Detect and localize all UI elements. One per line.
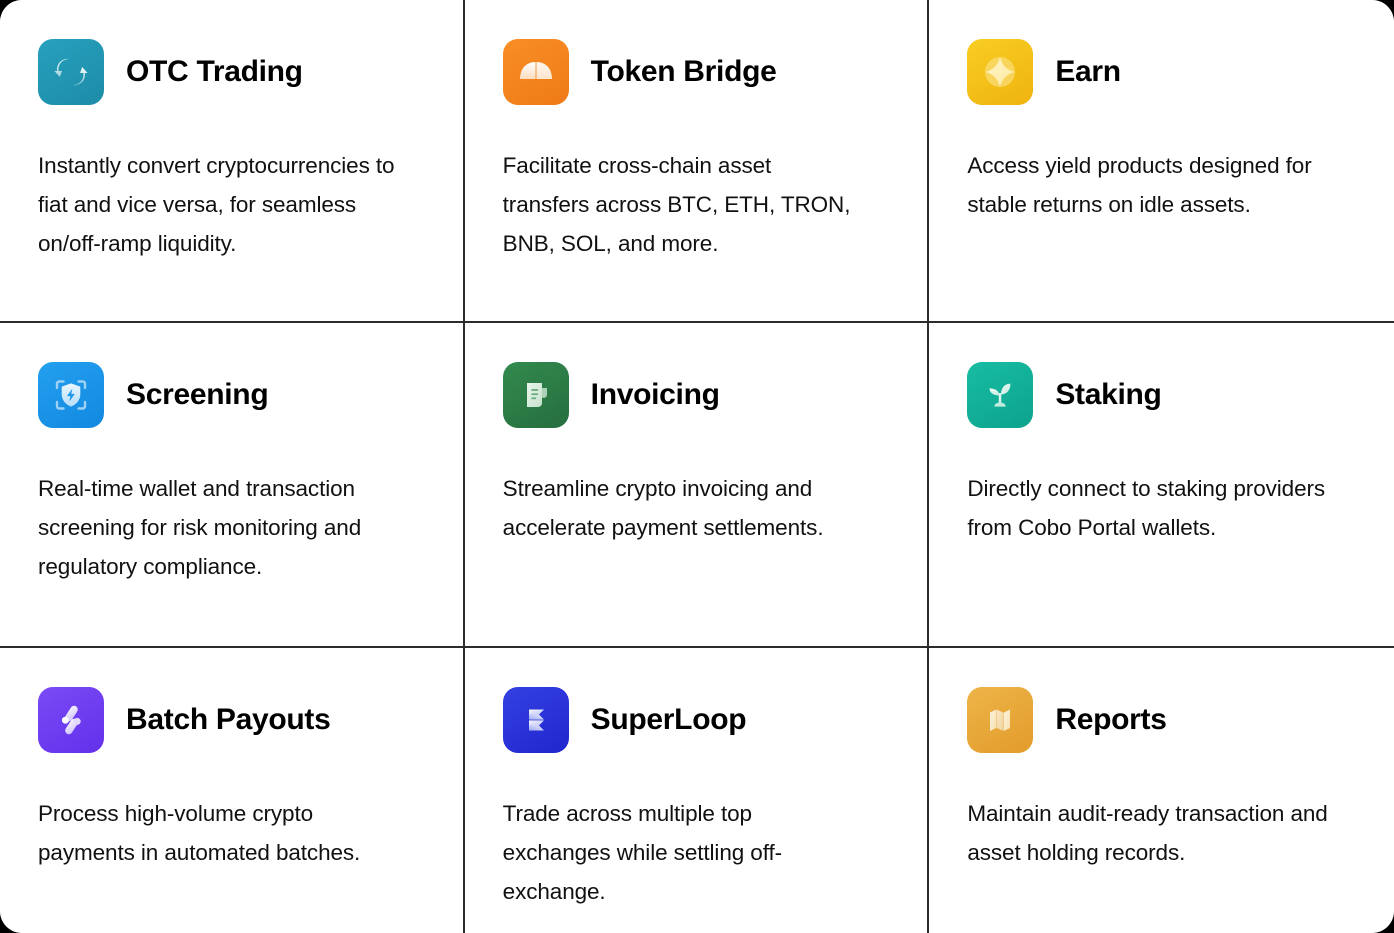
- feature-card-otc-trading[interactable]: OTC Trading Instantly convert cryptocurr…: [0, 0, 465, 323]
- card-title: Reports: [1055, 705, 1166, 735]
- feature-card-screening[interactable]: Screening Real-time wallet and transacti…: [0, 323, 465, 648]
- token-bridge-arch-icon: [503, 39, 569, 105]
- staking-sprout-icon: [967, 362, 1033, 428]
- otc-trading-swap-arrows-icon: [38, 39, 104, 105]
- card-description: Streamline crypto invoicing and accelera…: [503, 469, 863, 547]
- card-title: OTC Trading: [126, 57, 303, 87]
- card-title: Screening: [126, 380, 268, 410]
- card-title: Token Bridge: [591, 57, 777, 87]
- feature-card-staking[interactable]: Staking Directly connect to staking prov…: [929, 323, 1394, 648]
- card-description: Instantly convert cryptocurrencies to fi…: [38, 146, 398, 263]
- card-title: Invoicing: [591, 380, 720, 410]
- card-description: Process high-volume crypto payments in a…: [38, 794, 398, 872]
- card-title: Earn: [1055, 57, 1121, 87]
- earn-sparkle-circle-icon: [967, 39, 1033, 105]
- card-header: OTC Trading: [38, 38, 423, 106]
- card-header: Staking: [967, 361, 1354, 429]
- card-header: Earn: [967, 38, 1354, 106]
- feature-card-token-bridge[interactable]: Token Bridge Facilitate cross-chain asse…: [465, 0, 930, 323]
- card-title: Batch Payouts: [126, 705, 331, 735]
- card-title: Staking: [1055, 380, 1161, 410]
- reports-folders-icon: [967, 687, 1033, 753]
- card-header: Reports: [967, 686, 1354, 754]
- invoicing-receipt-icon: [503, 362, 569, 428]
- card-header: SuperLoop: [503, 686, 888, 754]
- card-description: Facilitate cross-chain asset transfers a…: [503, 146, 863, 263]
- card-description: Real-time wallet and transaction screeni…: [38, 469, 398, 586]
- feature-card-batch-payouts[interactable]: Batch Payouts Process high-volume crypto…: [0, 648, 465, 933]
- card-description: Trade across multiple top exchanges whil…: [503, 794, 863, 911]
- card-header: Batch Payouts: [38, 686, 423, 754]
- card-title: SuperLoop: [591, 705, 747, 735]
- batch-payouts-slashes-icon: [38, 687, 104, 753]
- card-description: Directly connect to staking providers fr…: [967, 469, 1342, 547]
- card-description: Maintain audit-ready transaction and ass…: [967, 794, 1342, 872]
- feature-grid: OTC Trading Instantly convert cryptocurr…: [0, 0, 1394, 933]
- screening-shield-scan-icon: [38, 362, 104, 428]
- card-header: Invoicing: [503, 361, 888, 429]
- feature-card-invoicing[interactable]: Invoicing Streamline crypto invoicing an…: [465, 323, 930, 648]
- card-header: Screening: [38, 361, 423, 429]
- feature-card-earn[interactable]: Earn Access yield products designed for …: [929, 0, 1394, 323]
- feature-card-reports[interactable]: Reports Maintain audit-ready transaction…: [929, 648, 1394, 933]
- superloop-ribbon-s-icon: [503, 687, 569, 753]
- feature-card-superloop[interactable]: SuperLoop Trade across multiple top exch…: [465, 648, 930, 933]
- card-header: Token Bridge: [503, 38, 888, 106]
- card-description: Access yield products designed for stabl…: [967, 146, 1342, 224]
